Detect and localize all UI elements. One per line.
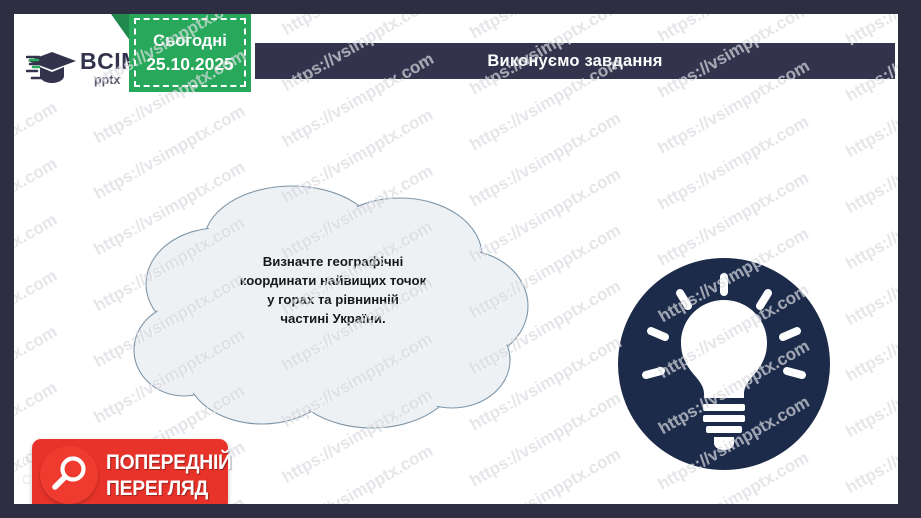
graduation-cap-icon: [26, 48, 78, 88]
preview-badge-text: ПОПЕРЕДНІЙ ПЕРЕГЛЯД: [106, 452, 243, 499]
preview-badge-line-1: ПОПЕРЕДНІЙ: [106, 452, 232, 473]
background-partial-line-2: С: [22, 470, 31, 490]
slide-canvas: п С 55: [14, 14, 898, 504]
header-bar: Виконуємо завдання: [255, 43, 895, 79]
magnifier-icon: [49, 455, 89, 495]
preview-badge-line-2: ПЕРЕГЛЯД: [106, 478, 232, 499]
slide-frame: п С 55: [0, 0, 921, 518]
background-partial-line-1: п: [22, 450, 31, 470]
cloud-text-line-3: у горах та рівнинній: [187, 290, 479, 309]
page-title: Виконуємо завдання: [487, 52, 662, 71]
cloud-text: Визначте географічні координати найвищих…: [187, 252, 479, 329]
date-badge-label: Сьогодні: [153, 32, 227, 51]
background-partial-text: п С: [22, 450, 31, 489]
preview-icon-circle: [40, 446, 98, 504]
cloud-callout: Визначте географічні координати найвищих…: [132, 174, 532, 434]
cloud-text-line-1: Визначте географічні: [187, 252, 479, 271]
cloud-text-line-4: частині України.: [187, 309, 479, 328]
date-badge: Сьогодні 25.10.2025: [129, 14, 251, 92]
brand-logo: BCIM pptx: [26, 44, 144, 92]
cloud-text-line-2: координати найвищих точок: [187, 271, 479, 290]
date-badge-value: 25.10.2025: [146, 54, 234, 74]
lightbulb-idea-icon: [618, 258, 830, 470]
preview-badge[interactable]: ПОПЕРЕДНІЙ ПЕРЕГЛЯД: [32, 439, 228, 504]
brand-subtitle: pptx: [94, 74, 120, 87]
lightbulb-illustration: [618, 258, 830, 470]
